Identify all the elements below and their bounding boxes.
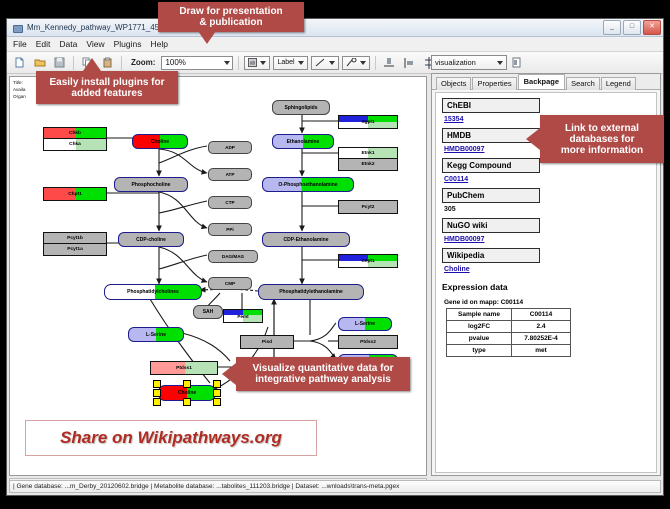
callout-share-wikipathways: Share on Wikipathways.org (25, 420, 317, 456)
expression-data-heading: Expression data (442, 282, 656, 292)
tab-backpage[interactable]: Backpage (518, 74, 565, 89)
node-label: ATP (209, 169, 251, 180)
db-header-nugo: NuGO wiki (442, 218, 540, 233)
node-label: CDP-choline (119, 233, 183, 246)
table-row: log2FC 2.4 (447, 321, 571, 333)
db-link-wikipedia[interactable]: Choline (444, 266, 656, 273)
db-header-kegg: Kegg Compound (442, 158, 540, 173)
pathway-canvas-inner: Title: Availa Organ (10, 77, 426, 475)
gene-node[interactable]: Etnk2 (338, 158, 398, 171)
shape-tool-combo[interactable]: ab (244, 56, 270, 70)
app-root: Mm_Kennedy_pathway_WP1771_45176.gpml _ □… (0, 0, 670, 509)
metabolite-node[interactable]: CDP-choline (118, 232, 184, 247)
metabolite-node[interactable]: L-Serine (128, 327, 184, 342)
toolbar-separator (121, 56, 122, 70)
selection-handle[interactable] (183, 380, 191, 388)
node-label: Phosphocholine (115, 178, 187, 191)
node-label: Ethanolamine (273, 135, 333, 148)
node-label: DAG/MAG (209, 251, 257, 262)
app-icon (12, 23, 22, 33)
node-label: Pcyt2 (339, 201, 397, 213)
gene-node[interactable]: Chpt1 (43, 187, 107, 201)
node-label: Choline (133, 135, 187, 148)
gene-id-label: Gene id on mapp: C00114 (444, 299, 656, 306)
node-label: Chpt1 (44, 188, 106, 200)
status-bar: | Gene database: ...m_Derby_20120602.bri… (9, 480, 661, 493)
menu-item-file[interactable]: File (13, 39, 27, 49)
toolbar-separator (375, 56, 376, 70)
node-label: SAH (194, 306, 222, 318)
metabolite-node[interactable]: O-Phosphoethanolamine (262, 177, 354, 192)
metabolite-node[interactable]: DAG/MAG (208, 250, 258, 263)
row-value: C00114 (512, 309, 571, 321)
chevron-down-icon[interactable] (260, 61, 266, 65)
close-button[interactable]: ✕ (643, 20, 661, 35)
chevron-down-icon[interactable] (298, 61, 304, 65)
node-label: Ptdss1 (151, 362, 217, 374)
node-label: Pcyt1a (44, 244, 106, 255)
metabolite-node[interactable]: PPi (208, 223, 252, 236)
tab-properties[interactable]: Properties (472, 77, 516, 90)
label-tool-combo[interactable]: Label (273, 56, 307, 70)
metabolite-node[interactable]: Choline (132, 134, 188, 149)
chevron-down-icon[interactable] (224, 61, 230, 65)
node-label: Etnk2 (339, 159, 397, 170)
gene-node[interactable]: Pcyt1a (43, 243, 107, 256)
row-value: 2.4 (512, 321, 571, 333)
gene-node[interactable]: Ptdss2 (338, 335, 398, 349)
table-row: pvalue 7.80252E-4 (447, 333, 571, 345)
metabolite-node[interactable]: Phosphocholine (114, 177, 188, 192)
callout-arrow-up (83, 58, 101, 71)
node-label: CDP-Ethanolamine (263, 233, 349, 246)
node-label: O-Phosphoethanolamine (263, 178, 353, 191)
menu-item-plugins[interactable]: Plugins (114, 39, 142, 49)
window-controls[interactable]: _ □ ✕ (603, 20, 661, 35)
export-icon[interactable] (509, 54, 526, 71)
visualization-value: visualization (435, 58, 476, 67)
selection-handle[interactable] (213, 398, 221, 406)
gene-node[interactable]: Pisd (240, 335, 294, 349)
gene-node[interactable]: Chka (43, 138, 107, 151)
metabolite-node[interactable]: CDP-Ethanolamine (262, 232, 350, 247)
menu-item-view[interactable]: View (86, 39, 104, 49)
toolbar-separator (73, 56, 74, 70)
metabolite-node[interactable]: Phosphatidylethanolamine (258, 284, 364, 300)
db-link-kegg[interactable]: C00114 (444, 176, 656, 183)
callout-link-external-databases: Link to external databases for more info… (540, 115, 664, 163)
gene-node[interactable]: Pemt (223, 309, 263, 323)
metabolite-node[interactable]: Phosphatidylcholines (104, 284, 202, 300)
db-header-chebi: ChEBI (442, 98, 540, 113)
metabolite-node[interactable]: CTP (208, 196, 252, 209)
db-header-wikipedia: Wikipedia (442, 248, 540, 263)
row-key: log2FC (447, 321, 512, 333)
paste-icon[interactable] (99, 54, 116, 71)
maximize-button[interactable]: □ (623, 20, 641, 35)
line-tool-combo[interactable] (311, 56, 339, 70)
chevron-down-icon[interactable] (329, 61, 335, 65)
db-value-pubchem: 305 (444, 206, 656, 213)
row-key: pvalue (447, 333, 512, 345)
node-label: L-Serine (129, 328, 183, 341)
node-label: Phosphatidylethanolamine (259, 285, 363, 299)
node-label: Sphingolipids (273, 101, 329, 114)
tab-legend[interactable]: Legend (601, 77, 636, 90)
anchor-tool-combo[interactable] (342, 56, 370, 70)
gene-node[interactable]: Pcyt2 (338, 200, 398, 214)
expression-data-table: Sample name C00114 log2FC 2.4 pvalue 7.8… (446, 308, 571, 357)
row-key: type (447, 345, 512, 357)
align-top-icon[interactable] (381, 54, 398, 71)
selection-handle[interactable] (183, 398, 191, 406)
open-folder-icon[interactable] (31, 54, 48, 71)
callout-install-plugins: Easily install plugins for added feature… (36, 71, 178, 104)
gene-node[interactable]: Sgpl1 (338, 115, 398, 129)
db-link-nugo[interactable]: HMDB00097 (444, 236, 656, 243)
selection-handle[interactable] (153, 380, 161, 388)
metabolite-node[interactable]: ATP (208, 168, 252, 181)
svg-text:ab: ab (250, 61, 256, 67)
row-value: met (512, 345, 571, 357)
selection-handle[interactable] (213, 389, 221, 397)
align-left-icon[interactable] (401, 54, 418, 71)
node-label: CTP (209, 197, 251, 208)
node-label: Chka (44, 139, 106, 150)
tab-objects[interactable]: Objects (436, 77, 471, 90)
status-bar-text: | Gene database: ...m_Derby_20120602.bri… (13, 483, 399, 490)
callout-arrow-left (526, 128, 540, 150)
node-label: Ptdss2 (339, 336, 397, 348)
toolbar-separator (238, 56, 239, 70)
zoom-value: 100% (165, 58, 185, 67)
side-panel-tabs: Objects Properties Backpage Search Legen… (432, 74, 660, 90)
metabolite-node[interactable]: SAH (193, 305, 223, 319)
save-icon[interactable] (51, 54, 68, 71)
new-document-icon[interactable] (11, 54, 28, 71)
share-text: Share on Wikipathways.org (60, 428, 282, 448)
db-header-pubchem: PubChem (442, 188, 540, 203)
node-label: CMP (209, 278, 251, 289)
callout-visualize-quantitative-data: Visualize quantitative data for integrat… (236, 357, 410, 391)
metabolite-node[interactable]: ADP (208, 141, 252, 154)
pathway-canvas[interactable]: Title: Availa Organ (9, 76, 427, 476)
label-tool-text: Label (277, 59, 294, 66)
menu-item-edit[interactable]: Edit (36, 39, 51, 49)
chevron-down-icon[interactable] (497, 61, 503, 65)
node-label: Pemt (224, 310, 262, 322)
node-label: Cept1 (339, 255, 397, 267)
row-value: 7.80252E-4 (512, 333, 571, 345)
callout-arrow-left (222, 363, 236, 385)
node-label: Pisd (241, 336, 293, 348)
zoom-label: Zoom: (131, 58, 155, 67)
selection-handle[interactable] (153, 389, 161, 397)
row-key: Sample name (447, 309, 512, 321)
gene-node[interactable]: Ptdss1 (150, 361, 218, 375)
table-row: Sample name C00114 (447, 309, 571, 321)
gene-node[interactable]: Cept1 (338, 254, 398, 268)
node-label: Sgpl1 (339, 116, 397, 128)
selection-handle[interactable] (213, 380, 221, 388)
menu-item-data[interactable]: Data (59, 39, 77, 49)
node-label: L-Serine (339, 318, 391, 330)
menu-bar: File Edit Data View Plugins Help (7, 37, 663, 52)
metabolite-node[interactable]: CMP (208, 277, 252, 290)
zoom-input[interactable]: 100% (161, 56, 233, 70)
metabolite-node[interactable]: L-Serine (338, 317, 392, 331)
selection-handle[interactable] (153, 398, 161, 406)
callout-draw-for-publication: Draw for presentation & publication (158, 2, 304, 32)
title-bar: Mm_Kennedy_pathway_WP1771_45176.gpml _ □… (7, 19, 663, 37)
callout-arrow-down (198, 31, 216, 44)
chevron-down-icon[interactable] (360, 61, 366, 65)
table-row: type met (447, 345, 571, 357)
node-label: PPi (209, 224, 251, 235)
metabolite-node[interactable]: Sphingolipids (272, 100, 330, 115)
metabolite-node[interactable]: Ethanolamine (272, 134, 334, 149)
visualization-combo[interactable]: visualization (431, 55, 507, 70)
minimize-button[interactable]: _ (603, 20, 621, 35)
node-label: ADP (209, 142, 251, 153)
menu-item-help[interactable]: Help (151, 39, 168, 49)
node-label: Phosphatidylcholines (105, 285, 201, 299)
tab-search[interactable]: Search (566, 77, 600, 90)
